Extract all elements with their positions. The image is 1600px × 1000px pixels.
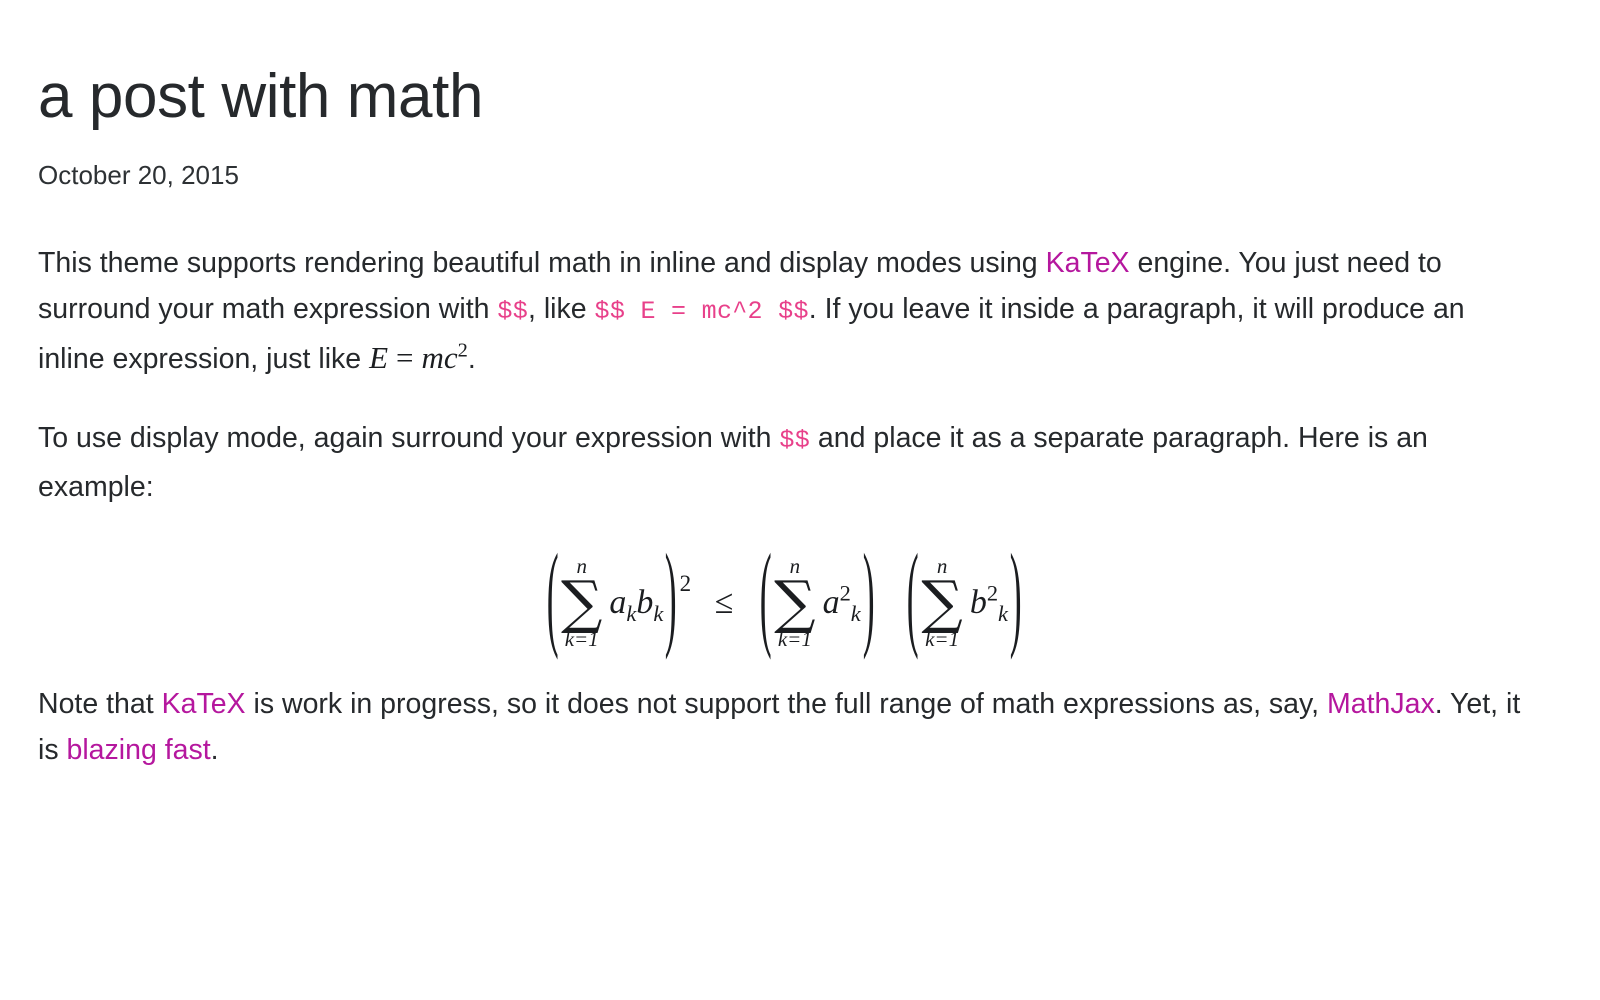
link-katex[interactable]: KaTeX bbox=[1046, 247, 1130, 279]
summation-2: n∑k=1 bbox=[774, 556, 815, 651]
page-title: a post with math bbox=[38, 62, 1560, 131]
paragraph-intro: This theme supports rendering beautiful … bbox=[38, 240, 1530, 382]
sum-lower-limit: k=1 bbox=[925, 629, 959, 650]
outer-exponent: 2 bbox=[680, 572, 692, 595]
relation-leq-icon: ≤ bbox=[699, 586, 750, 620]
paren-close-icon: ) bbox=[862, 541, 874, 658]
post-page: a post with math October 20, 2015 This t… bbox=[0, 0, 1600, 1000]
sigma-icon: ∑ bbox=[921, 579, 962, 627]
term-b-k-squared: b2k bbox=[970, 586, 1008, 620]
code-dollar-delimiters: $$ bbox=[497, 297, 528, 326]
sigma-icon: ∑ bbox=[561, 579, 602, 627]
inline-math-emc2: E=mc2 bbox=[369, 335, 468, 381]
paragraph-text: . bbox=[211, 734, 219, 766]
cauchy-schwarz-inequality: (n∑k=1akbk)2 ≤ (n∑k=1a2k) (n∑k=1b2k) bbox=[545, 554, 1024, 649]
sum-lower-limit: k=1 bbox=[778, 629, 812, 650]
paragraph-note: Note that KaTeX is work in progress, so … bbox=[38, 681, 1530, 773]
paragraph-text: Note that bbox=[38, 688, 162, 720]
paren-open-icon: ( bbox=[907, 541, 919, 658]
link-mathjax[interactable]: MathJax bbox=[1327, 688, 1435, 720]
sigma-icon: ∑ bbox=[774, 579, 815, 627]
paragraph-text: is work in progress, so it does not supp… bbox=[246, 688, 1327, 720]
paragraph-text: This theme supports rendering beautiful … bbox=[38, 247, 1046, 279]
summation-1: n∑k=1 bbox=[561, 556, 602, 651]
summation-3: n∑k=1 bbox=[921, 556, 962, 651]
paragraph-text: . bbox=[468, 343, 476, 375]
term-a-k-b-k: akbk bbox=[609, 586, 663, 620]
code-math-example: $$ E = mc^2 $$ bbox=[595, 297, 809, 326]
link-blazing-fast[interactable]: blazing fast bbox=[67, 734, 211, 766]
link-katex[interactable]: KaTeX bbox=[162, 688, 246, 720]
sum-lower-limit: k=1 bbox=[565, 629, 599, 650]
term-a-k-squared: a2k bbox=[823, 586, 861, 620]
code-dollar-delimiters: $$ bbox=[779, 426, 810, 455]
post-date: October 20, 2015 bbox=[38, 160, 1560, 191]
paragraph-text: , like bbox=[528, 293, 595, 325]
paren-open-icon: ( bbox=[546, 541, 558, 658]
paragraph-display-mode: To use display mode, again surround your… bbox=[38, 415, 1530, 510]
paren-close-icon: ) bbox=[1010, 541, 1022, 658]
post-body: This theme supports rendering beautiful … bbox=[38, 240, 1530, 774]
paragraph-text: To use display mode, again surround your… bbox=[38, 422, 779, 454]
paren-close-icon: ) bbox=[665, 541, 677, 658]
display-math-block: (n∑k=1akbk)2 ≤ (n∑k=1a2k) (n∑k=1b2k) bbox=[38, 554, 1530, 649]
paren-open-icon: ( bbox=[760, 541, 772, 658]
